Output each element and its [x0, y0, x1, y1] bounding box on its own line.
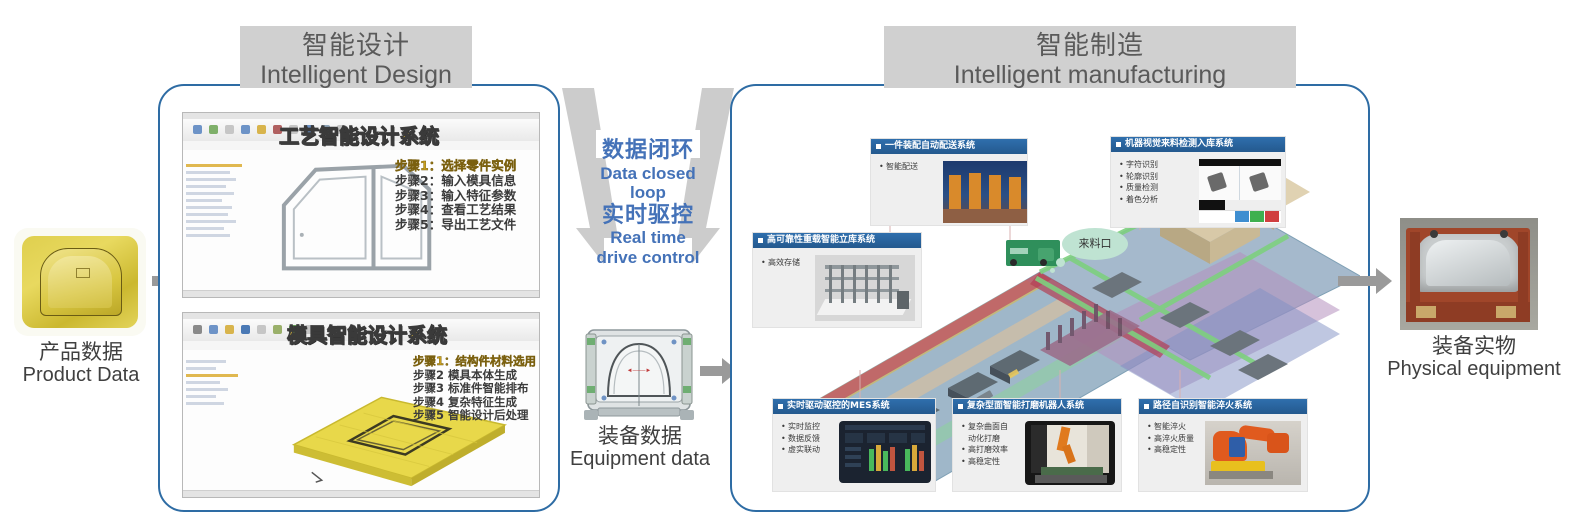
app-bottom-step-3: 步骤3 标准件智能排布 [413, 382, 536, 396]
app-bottom-step-4: 步骤4 复杂特征生成 [413, 396, 536, 410]
bullet-square-icon [1144, 404, 1149, 409]
bullet-square-icon [1116, 142, 1121, 147]
app-bottom-step-1: 步骤1：结构件材料选用 [413, 355, 536, 369]
app-bottom-statusbar [183, 490, 539, 497]
app-bottom-step-2: 步骤2 模具本体生成 [413, 369, 536, 383]
card-mes-system-title: 实时驱动驱控的MES系统 [773, 399, 935, 414]
mold-die-cad-graphic: ◄───► [578, 322, 700, 422]
app-top-step-4: 步骤4：查看工艺结果 [395, 203, 516, 218]
card-auto-delivery-title: 一件装配自动配送系统 [871, 139, 1027, 154]
card-grinding-robot-title: 复杂型面智能打磨机器人系统 [953, 399, 1121, 414]
card-machine-vision-title: 机器视觉来料检测入库系统 [1111, 137, 1285, 152]
diagram-canvas: 产品数据 Product Data 智能设计 Intelligent Desig… [0, 0, 1574, 529]
app-top-step-5: 步骤5：导出工艺文件 [395, 218, 516, 233]
loop-line3-en: Real time [566, 228, 730, 248]
card-grinding-robot-photo [1025, 421, 1115, 485]
app-top-step-3: 步骤3：输入特征参数 [395, 189, 516, 204]
caption-physical-equipment-cn: 装备实物 [1384, 334, 1564, 358]
app-bottom-title: 模具智能设计系统 [287, 319, 447, 348]
card-mes-dashboard-photo [839, 421, 931, 483]
card-auto-delivery-photo [943, 161, 1027, 223]
intelligent-manufacturing-banner: 智能制造 Intelligent manufacturing [884, 26, 1296, 88]
app-top-statusbar [183, 290, 539, 297]
card-grinding-robot-bullets: •复杂曲面自 动化打磨 •高打磨效率 •高稳定性 [961, 421, 1008, 467]
caption-product-data: 产品数据 Product Data [8, 340, 154, 387]
bullet-square-icon [778, 404, 783, 409]
card-mes-system-bullets: •实时监控 •数据反馈 •虚实联动 [781, 421, 820, 456]
bullet-square-icon [758, 238, 763, 243]
caption-equipment-data-cn: 装备数据 [554, 424, 726, 448]
design-banner-en: Intelligent Design [258, 61, 454, 89]
card-quenching-robot-photo [1205, 421, 1301, 485]
app-bottom-step-5: 步骤5 智能设计后处理 [413, 409, 536, 423]
card-smart-warehouse-photo [815, 255, 915, 321]
app-top-step-2: 步骤2：输入模具信息 [395, 174, 516, 189]
caption-physical-equipment-en: Physical equipment [1384, 358, 1564, 381]
bullet-square-icon [876, 144, 881, 149]
app-top-step-1: 步骤1：选择零件实例 [395, 159, 516, 174]
physical-equipment-image [1400, 218, 1538, 330]
loop-line1-en: Data closed [566, 164, 730, 184]
app-top-steps: 步骤1：选择零件实例 步骤2：输入模具信息 步骤3：输入特征参数 步骤4：查看工… [395, 159, 516, 233]
design-banner-cn: 智能设计 [258, 32, 454, 61]
card-auto-delivery-bullets: •智能配送 [879, 161, 918, 173]
caption-equipment-data-en: Equipment data [554, 448, 726, 471]
intelligent-design-banner: 智能设计 Intelligent Design [240, 26, 472, 88]
equipment-data-image: ◄───► [578, 322, 700, 422]
loop-line4-en: drive control [566, 248, 730, 268]
card-machine-vision-bullets: •字符识别 •轮廓识别 •质量检测 •着色分析 [1119, 159, 1158, 205]
app-top-title: 工艺智能设计系统 [279, 120, 439, 149]
card-quenching-system-bullets: •智能淬火 •高淬火质量 •高稳定性 [1147, 421, 1194, 456]
card-smart-warehouse-bullets: •高效存储 [761, 257, 800, 269]
loop-line3-cn: 实时驱控 [566, 203, 730, 229]
caption-physical-equipment: 装备实物 Physical equipment [1384, 334, 1564, 381]
card-smart-warehouse-title: 高可靠性重载智能立库系统 [753, 233, 921, 248]
caption-product-data-en: Product Data [8, 364, 154, 387]
svg-text:◄───►: ◄───► [627, 368, 652, 374]
process-design-software-screenshot[interactable]: 工艺智能设计系统 步骤1：选择零件实例 步骤2：输入模具信息 步骤3：输入特征参… [182, 112, 540, 298]
loop-line1-cn: 数据闭环 [566, 138, 730, 164]
manufacturing-banner-cn: 智能制造 [902, 32, 1278, 61]
card-smart-warehouse[interactable]: 高可靠性重载智能立库系统 •高效存储 [752, 232, 922, 328]
manufacturing-banner-en: Intelligent manufacturing [902, 61, 1278, 89]
card-grinding-robot[interactable]: 复杂型面智能打磨机器人系统 •复杂曲面自 动化打磨 •高打磨效率 •高稳定性 [952, 398, 1122, 492]
app-top-model-tree[interactable] [183, 150, 255, 297]
data-closed-loop-text: 数据闭环 Data closed loop 实时驱控 Real time dri… [566, 138, 730, 268]
card-auto-delivery[interactable]: 一件装配自动配送系统 •智能配送 [870, 138, 1028, 226]
card-quenching-system[interactable]: 路径自识别智能淬火系统 •智能淬火 •高淬火质量 •高稳定性 [1138, 398, 1308, 492]
loop-line2-en: loop [566, 183, 730, 203]
caption-equipment-data: 装备数据 Equipment data [554, 424, 726, 471]
arrow-manufacturing-to-physical [1338, 268, 1394, 294]
bullet-square-icon [958, 404, 963, 409]
card-mes-system[interactable]: 实时驱动驱控的MES系统 •实时监控 •数据反馈 •虚实联动 [772, 398, 936, 492]
card-quenching-system-title: 路径自识别智能淬火系统 [1139, 399, 1307, 414]
caption-product-data-cn: 产品数据 [8, 340, 154, 364]
card-machine-vision[interactable]: 机器视觉来料检测入库系统 •字符识别 •轮廓识别 •质量检测 •着色分析 [1110, 136, 1286, 228]
app-bottom-model-tree[interactable] [183, 350, 255, 497]
app-bottom-steps: 步骤1：结构件材料选用 步骤2 模具本体生成 步骤3 标准件智能排布 步骤4 复… [413, 355, 536, 423]
product-data-image [14, 228, 146, 336]
card-machine-vision-photo [1199, 159, 1281, 223]
mold-design-software-screenshot[interactable]: 模具智能设计系统 步骤1：结构件材料选用 步骤2 模具本体生成 步骤3 标准件智… [182, 312, 540, 498]
